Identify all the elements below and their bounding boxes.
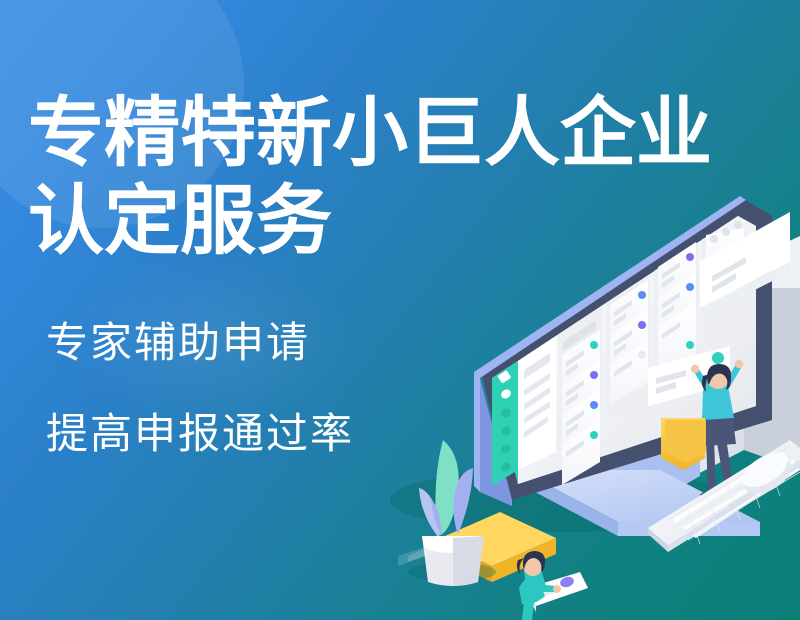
subheadline-line-2: 提高申报通过率 — [46, 413, 354, 455]
subheadline-line-1: 专家辅助申请 — [46, 322, 310, 364]
poster-root: 专精特新小巨人企业 认定服务 专家辅助申请 提高申报通过率 — [0, 0, 800, 620]
headline-line-2: 认定服务 — [28, 184, 332, 260]
text-block: 专精特新小巨人企业 认定服务 专家辅助申请 提高申报通过率 — [0, 0, 800, 620]
headline-line-1: 专精特新小巨人企业 — [28, 96, 712, 172]
